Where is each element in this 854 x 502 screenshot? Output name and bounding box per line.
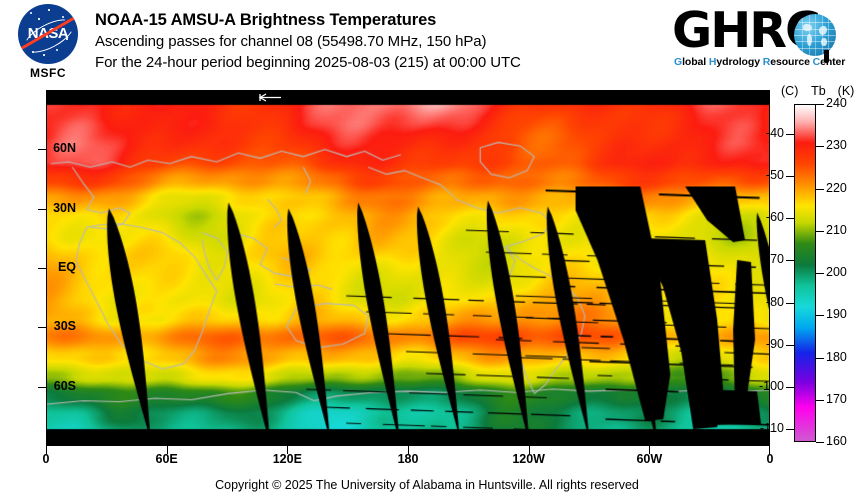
lat-tick xyxy=(38,387,46,388)
lat-label-60n: 60N xyxy=(53,141,76,155)
lat-tick xyxy=(38,327,46,328)
lat-tick xyxy=(38,268,46,269)
nasa-logo: NASA MSFC xyxy=(10,4,86,82)
lon-tick xyxy=(529,446,530,454)
colorbar-tick-celsius xyxy=(786,345,794,346)
lon-label-4: 120W xyxy=(512,452,545,466)
lat-tick xyxy=(38,149,46,150)
page-subtitle: Ascending passes for channel 08 (55498.7… xyxy=(95,31,521,52)
colorbar-label-celsius-70: -70 xyxy=(766,252,784,266)
colorbar-label-celsius-80: -80 xyxy=(766,295,784,309)
colorbar-unit-celsius: (C) xyxy=(781,84,798,98)
colorbar-tick-kelvin xyxy=(816,189,824,190)
colorbar-tick-kelvin xyxy=(816,231,824,232)
title-block: NOAA-15 AMSU-A Brightness Temperatures A… xyxy=(95,10,521,73)
lon-tick xyxy=(408,446,409,454)
colorbar-label-kelvin-230: 230 xyxy=(826,138,847,152)
lon-tick xyxy=(46,446,47,454)
colorbar-tick-kelvin xyxy=(816,146,824,147)
lon-label-5: 60W xyxy=(636,452,662,466)
lon-tick xyxy=(167,446,168,454)
lon-label-0: 0 xyxy=(43,452,50,466)
lon-tick xyxy=(287,446,288,454)
colorbar-label-celsius-110: -110 xyxy=(760,421,784,435)
colorbar-label-celsius-100: -100 xyxy=(759,379,784,393)
colorbar-tick-celsius xyxy=(786,176,794,177)
brightness-temperature-map[interactable] xyxy=(46,90,770,446)
page-period: For the 24-hour period beginning 2025-08… xyxy=(95,52,521,73)
colorbar-tick-celsius xyxy=(786,260,794,261)
colorbar-label-celsius-40: -40 xyxy=(766,126,784,140)
colorbar-tick-celsius xyxy=(786,429,794,430)
colorbar-tick-kelvin xyxy=(816,273,824,274)
ghrc-logo: GHRC Global Hydrology Resource Center xyxy=(672,6,840,74)
colorbar-tick-kelvin xyxy=(816,442,824,443)
colorbar-label-kelvin-220: 220 xyxy=(826,181,847,195)
colorbar-tick-celsius xyxy=(786,218,794,219)
colorbar-variable: Tb xyxy=(811,84,826,98)
map-raster xyxy=(47,91,769,445)
colorbar-label-kelvin-160: 160 xyxy=(826,434,847,448)
ghrc-tagline: Global Hydrology Resource Center xyxy=(674,56,845,68)
globe-icon xyxy=(794,14,836,56)
lon-tick xyxy=(769,446,770,454)
lon-label-3: 180 xyxy=(398,452,419,466)
nasa-meatball-icon: NASA xyxy=(18,4,78,64)
colorbar-label-celsius-90: -90 xyxy=(766,337,784,351)
colorbar-label-celsius-60: -60 xyxy=(766,210,784,224)
colorbar-tick-kelvin xyxy=(816,358,824,359)
colorbar-tick-celsius xyxy=(786,134,794,135)
lat-label-30s: 30S xyxy=(54,319,76,333)
colorbar-label-kelvin-200: 200 xyxy=(826,265,847,279)
swath-direction-marker-icon xyxy=(258,93,282,102)
lon-label-6: 0 xyxy=(767,452,774,466)
lon-label-2: 120E xyxy=(273,452,302,466)
colorbar-tick-kelvin xyxy=(816,315,824,316)
lon-label-1: 60E xyxy=(156,452,178,466)
colorbar-label-kelvin-170: 170 xyxy=(826,392,847,406)
lon-tick xyxy=(649,446,650,454)
colorbar-gradient[interactable] xyxy=(794,104,816,442)
lat-tick xyxy=(38,209,46,210)
colorbar-tick-celsius xyxy=(786,303,794,304)
colorbar-label-kelvin-180: 180 xyxy=(826,350,847,364)
colorbar-label-celsius-50: -50 xyxy=(766,168,784,182)
lat-label-60s: 60S xyxy=(54,379,76,393)
colorbar-tick-kelvin xyxy=(816,104,824,105)
colorbar-label-kelvin-240: 240 xyxy=(826,96,847,110)
colorbar-label-kelvin-190: 190 xyxy=(826,307,847,321)
page-title: NOAA-15 AMSU-A Brightness Temperatures xyxy=(95,10,521,31)
colorbar-tick-kelvin xyxy=(816,400,824,401)
lat-label-30n: 30N xyxy=(53,201,76,215)
lat-label-eq: EQ xyxy=(58,260,76,274)
nasa-center-label: MSFC xyxy=(10,66,86,80)
colorbar-label-kelvin-210: 210 xyxy=(826,223,847,237)
copyright-notice: Copyright © 2025 The University of Alaba… xyxy=(0,478,854,492)
colorbar-tick-celsius xyxy=(786,387,794,388)
